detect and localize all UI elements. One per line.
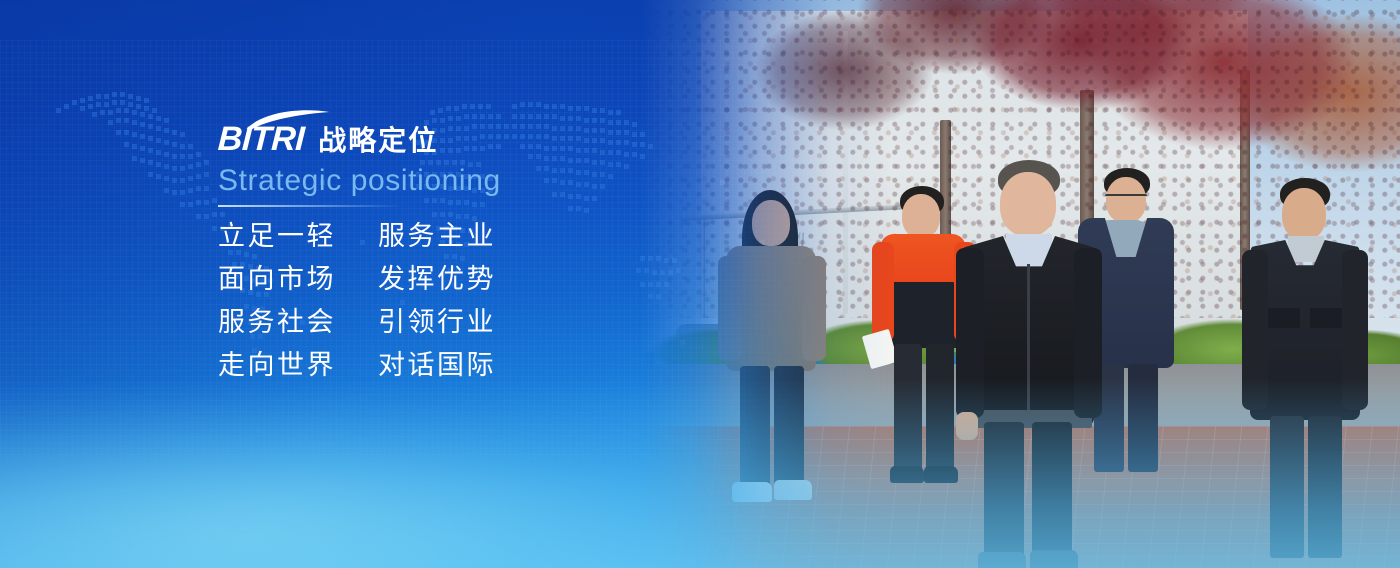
- bitri-wordmark: BITRI: [217, 122, 305, 156]
- leg-right: [1128, 364, 1158, 472]
- brand-lockup: BITRI 战略定位: [218, 112, 738, 156]
- slogan-list: 立足一轻 服务主业 面向市场 发挥优势 服务社会 引领行业 走向世界 对话国际: [218, 223, 738, 379]
- title-english: Strategic positioning: [218, 164, 738, 197]
- leg-left: [894, 344, 922, 472]
- slogan-line: 立足一轻 服务主业: [218, 223, 738, 250]
- slogan-left: 面向市场: [218, 264, 336, 294]
- leg-right: [1308, 416, 1342, 558]
- slogan-right: 对话国际: [378, 350, 496, 380]
- leg-right: [774, 366, 804, 488]
- arm-left: [872, 242, 894, 342]
- arm-right: [1074, 248, 1102, 418]
- slogan-line: 面向市场 发挥优势: [218, 266, 738, 293]
- campus-walk-photo: [640, 0, 1400, 568]
- slogan-right: 引领行业: [378, 307, 496, 337]
- slogan-left: 立足一轻: [218, 221, 336, 251]
- head: [752, 200, 790, 246]
- shoe-right: [1030, 550, 1078, 568]
- shoe-left: [890, 466, 924, 483]
- slogan-left: 服务社会: [218, 307, 336, 337]
- leg-left: [984, 422, 1024, 560]
- arm-right: [1342, 250, 1368, 410]
- shoe-left: [732, 482, 772, 502]
- title-chinese: 战略定位: [318, 127, 438, 155]
- hand-left: [956, 412, 978, 440]
- leg-left: [1270, 416, 1304, 558]
- shoe-left: [978, 552, 1026, 568]
- slogan-left: 走向世界: [218, 350, 336, 380]
- strategic-positioning-banner: BITRI 战略定位 Strategic positioning 立足一轻 服务…: [0, 0, 1400, 568]
- slogan-right: 发挥优势: [378, 264, 496, 294]
- banner-text-block: BITRI 战略定位 Strategic positioning 立足一轻 服务…: [218, 112, 738, 395]
- glasses-icon: [1105, 194, 1147, 204]
- slogan-line: 走向世界 对话国际: [218, 352, 738, 379]
- head: [902, 194, 940, 238]
- head: [1282, 188, 1326, 240]
- photo-scene: [640, 0, 1400, 568]
- person-man-black-jacket-center: [954, 160, 1104, 560]
- slogan-right: 服务主业: [378, 221, 496, 251]
- leg-left: [740, 366, 770, 488]
- head: [1000, 172, 1056, 236]
- leg-right: [1032, 422, 1072, 560]
- jacket-zip: [1027, 264, 1030, 414]
- title-divider: [218, 205, 403, 207]
- shoe-right: [774, 480, 812, 500]
- slogan-line: 服务社会 引领行业: [218, 309, 738, 336]
- shoe-right: [924, 466, 958, 483]
- person-man-dark-jacket-right: [1240, 178, 1370, 558]
- arm-right: [802, 256, 826, 361]
- arm-left: [1242, 250, 1268, 410]
- arm-left: [956, 248, 984, 418]
- leg-right: [926, 344, 954, 472]
